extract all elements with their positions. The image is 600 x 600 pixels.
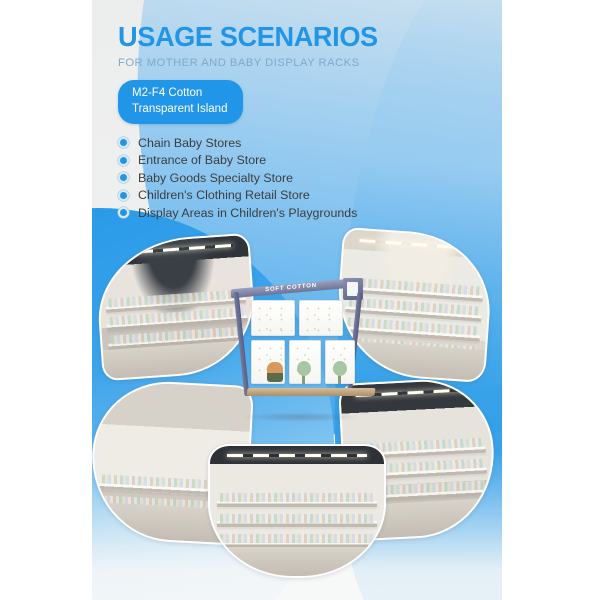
list-item: Display Areas in Children's Playgrounds <box>118 206 386 220</box>
list-item: Chain Baby Stores <box>118 136 386 150</box>
badge-line-1: M2-F4 Cotton <box>132 87 202 99</box>
list-item-label: Chain Baby Stores <box>138 136 241 150</box>
list-item: Entrance of Baby Store <box>118 153 386 167</box>
poster-canvas: USAGE SCENARIOS FOR MOTHER AND BABY DISP… <box>92 0 502 600</box>
store-photo-bottom-center <box>210 446 384 576</box>
collage-petal-bottom-center <box>208 444 386 578</box>
bullet-dot-icon <box>118 207 129 218</box>
rack-wooden-base <box>246 388 375 396</box>
page-title: USAGE SCENARIOS <box>118 22 378 51</box>
floor-surface <box>210 547 384 576</box>
list-item-label: Entrance of Baby Store <box>138 153 266 167</box>
tree-graphic <box>297 360 311 384</box>
page-subtitle: FOR MOTHER AND BABY DISPLAY RACKS <box>118 57 386 69</box>
list-item-label: Baby Goods Specialty Store <box>138 171 293 185</box>
usage-scenario-list: Chain Baby Stores Entrance of Baby Store… <box>118 136 386 220</box>
bear-mascot-graphic <box>267 362 283 382</box>
center-product-display-rack: SOFT COTTON <box>225 274 371 418</box>
list-item: Children's Clothing Retail Store <box>118 188 386 202</box>
poster-header: USAGE SCENARIOS FOR MOTHER AND BABY DISP… <box>118 22 386 223</box>
scenario-photo-collage: SOFT COTTON <box>92 222 502 582</box>
list-item-label: Display Areas in Children's Playgrounds <box>138 206 357 220</box>
badge-line-2: Transparent Island <box>132 103 227 115</box>
list-item: Baby Goods Specialty Store <box>118 171 386 185</box>
product-drop-shadow <box>241 412 359 422</box>
rack-panel <box>299 300 343 336</box>
bullet-dot-icon <box>118 137 129 148</box>
rack-panel <box>251 300 295 336</box>
rack-frame <box>239 292 357 398</box>
list-item-label: Children's Clothing Retail Store <box>138 188 310 202</box>
tree-graphic <box>333 360 347 384</box>
bullet-dot-icon <box>118 190 129 201</box>
product-model-badge: M2-F4 Cotton Transparent Island <box>118 80 243 123</box>
rack-leg-left <box>234 292 250 396</box>
bullet-dot-icon <box>118 172 129 183</box>
bullet-dot-icon <box>118 155 129 166</box>
